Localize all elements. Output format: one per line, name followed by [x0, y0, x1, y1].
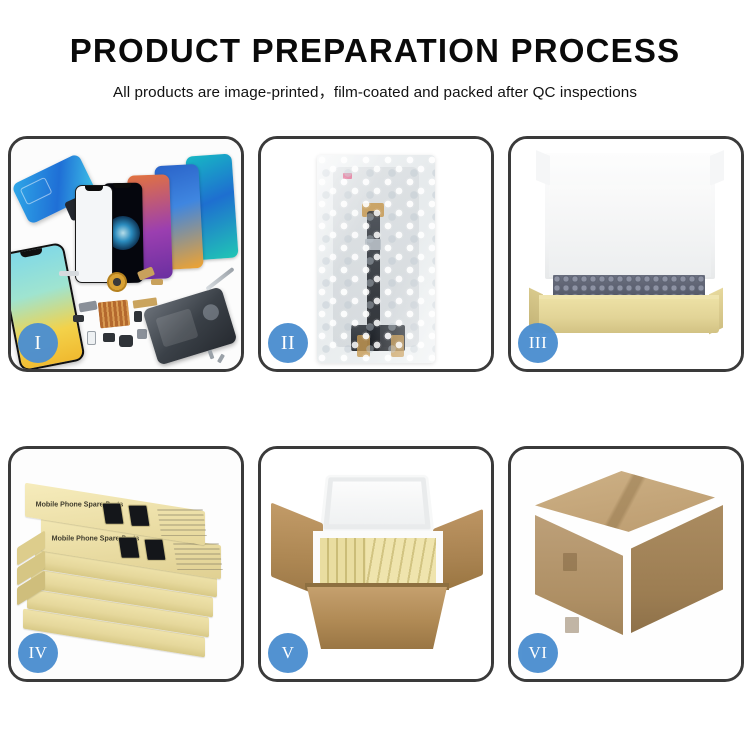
- step-image-stacked-retail-boxes: Mobile Phone Spare Parts Mobile Phone Sp…: [11, 449, 241, 679]
- step-image-sealed-carton: VI: [511, 449, 741, 679]
- carton-body-icon: [307, 587, 447, 649]
- box-thumbnail-icon: [143, 539, 166, 561]
- part-connector-icon: [151, 279, 163, 285]
- step-badge-1: I: [18, 323, 58, 363]
- step-image-bubble-wrapped-screen: II: [261, 139, 491, 369]
- box-thumbnail-icon: [101, 503, 124, 525]
- part-antenna-icon: [59, 271, 79, 276]
- screw-icon: [208, 350, 215, 360]
- part-bracket-icon: [78, 301, 97, 313]
- box-thumbnail-icon: [117, 537, 140, 559]
- step-panel-1[interactable]: I: [8, 136, 244, 372]
- step-badge-4: IV: [18, 633, 58, 673]
- step-image-products-overview: I: [11, 139, 241, 369]
- page-subtitle: All products are image-printed，film-coat…: [0, 80, 750, 102]
- phone-notch-icon: [113, 183, 131, 188]
- part-sim-tray-icon: [87, 331, 96, 345]
- box-spec-lines-icon: [173, 543, 223, 569]
- step-panel-2[interactable]: II: [258, 136, 494, 372]
- part-chip-icon: [73, 315, 84, 322]
- step-badge-3: III: [518, 323, 558, 363]
- phone-screen-1-icon: [75, 185, 113, 283]
- screw-icon: [217, 354, 225, 364]
- step-panel-3[interactable]: III: [508, 136, 744, 372]
- step-badge-2: II: [268, 323, 308, 363]
- page-title: PRODUCT PREPARATION PROCESS: [0, 34, 750, 69]
- phone-notch-icon: [85, 186, 103, 191]
- part-camera-icon: [103, 333, 115, 342]
- carton-tape-icon: [563, 553, 577, 571]
- part-vibrator-icon: [137, 329, 147, 339]
- step-image-open-inner-box: III: [511, 139, 741, 369]
- foam-backing-icon: [549, 185, 711, 277]
- sealed-carton-icon: [527, 471, 727, 659]
- box-spec-lines-icon: [157, 509, 207, 535]
- step-panel-4[interactable]: Mobile Phone Spare Parts Mobile Phone Sp…: [8, 446, 244, 682]
- step-image-foam-lined-carton: V: [261, 449, 491, 679]
- part-button-icon: [134, 311, 142, 322]
- plastic-sheen-icon: [317, 155, 435, 363]
- step-panel-6[interactable]: VI: [508, 446, 744, 682]
- carton-tape-icon: [565, 617, 579, 633]
- tweezers-icon: [205, 267, 234, 291]
- packed-yellow-boxes-icon: [320, 538, 436, 586]
- step-badge-6: VI: [518, 633, 558, 673]
- step-badge-5: V: [268, 633, 308, 673]
- foam-lid-icon: [320, 475, 435, 533]
- box-front-yellow-icon: [539, 299, 719, 333]
- part-speaker-icon: [119, 335, 133, 347]
- bubble-wrap-package-icon: [317, 155, 435, 363]
- process-steps-grid: I II: [8, 136, 742, 682]
- carton-left-face: [535, 515, 623, 635]
- copper-shield-plate-icon: [98, 300, 131, 329]
- page-header: PRODUCT PREPARATION PROCESS All products…: [0, 0, 750, 102]
- page-root: PRODUCT PREPARATION PROCESS All products…: [0, 0, 750, 750]
- box-thumbnail-icon: [127, 505, 150, 527]
- step-panel-5[interactable]: V: [258, 446, 494, 682]
